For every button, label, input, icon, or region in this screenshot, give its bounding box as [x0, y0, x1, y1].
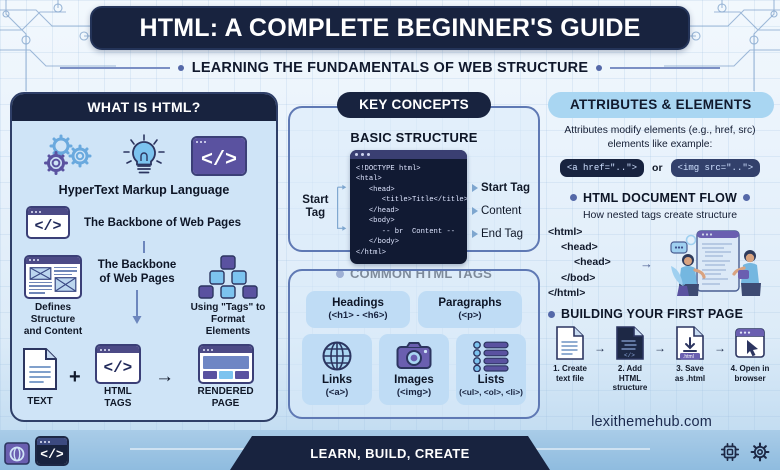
what-is-html-panel: WHAT IS HTML?: [10, 92, 278, 422]
people-with-screen-illustration: [657, 228, 765, 298]
html-badge-text: .html: [683, 354, 694, 360]
step-save-html: .html 3. Save as .html: [668, 325, 712, 383]
basic-structure-title: BASIC STRUCTURE: [298, 130, 530, 145]
flow-label-tags: HTML TAGS: [90, 386, 146, 410]
page-title-bar: HTML: A COMPLETE BEGINNER'S GUIDE: [90, 6, 690, 50]
document-flow-subtitle: How nested tags create structure: [548, 208, 772, 222]
tag-syntax-headings: (<h1> - <h6>): [308, 310, 408, 321]
first-page-dot: [548, 311, 555, 318]
right-column: ATTRIBUTES & ELEMENTS Attributes modify …: [548, 92, 772, 424]
defines-structure-caption: Defines Structure and Content: [22, 302, 84, 338]
subtitle-dot-left: [178, 65, 184, 71]
footer-right-icons: [720, 442, 770, 462]
code-window-small-icon: </>: [26, 206, 70, 239]
nested-tag-3: </bod>: [548, 271, 636, 286]
common-tags-card: Headings (<h1> - <h6>) Paragraphs (<p>) …: [288, 269, 540, 419]
blocks-hierarchy-icon: [196, 255, 260, 299]
code-file-icon: </>: [615, 325, 645, 361]
annotation-content: Content: [481, 205, 521, 217]
globe-icon: [321, 340, 353, 372]
basic-structure-card: BASIC STRUCTURE Start Tag <!DOCTYPE html…: [288, 106, 540, 252]
code-window-icon: </>: [191, 136, 247, 176]
rendered-page-icon: [198, 344, 254, 384]
html-code-sample: <!DOCTYPE html> <htal> <head> <title>Tit…: [350, 150, 467, 264]
attribute-or-label: or: [652, 162, 663, 174]
nested-tag-1: <head>: [548, 240, 636, 255]
flow-step-tags: </> HTML TAGS: [90, 344, 146, 410]
tag-syntax-paragraphs: (<p>): [420, 310, 520, 321]
tag-syntax-links: (<a>): [304, 387, 370, 398]
step-arrow-1: →: [594, 341, 606, 355]
flow-plus: +: [69, 366, 81, 389]
text-file-icon: [20, 347, 60, 391]
tag-card-headings[interactable]: Headings (<h1> - <h6>): [306, 291, 410, 328]
left-annotation-connector: [336, 164, 347, 250]
html-tags-window-icon: </>: [95, 344, 141, 384]
infographic-page: HTML: A COMPLETE BEGINNER'S GUIDE LEARNI…: [0, 0, 780, 470]
tag-syntax-images: (<img>): [381, 387, 447, 398]
attribute-example-img: <img src="..">: [671, 159, 761, 177]
step-add-html-structure: </> 2. Add HTML structure: [608, 325, 652, 393]
footer-bar: LEARN, BUILD, CREATE </>: [0, 430, 780, 470]
subtitle-row: LEARNING THE FUNDAMENTALS OF WEB STRUCTU…: [0, 58, 780, 78]
step-label-4: 4. Open in browser: [728, 364, 772, 383]
gears-icon: [41, 134, 97, 178]
first-page-heading: BUILDING YOUR FIRST PAGE: [561, 307, 743, 321]
save-file-icon: .html: [675, 325, 705, 361]
first-page-steps: 1. Create text file → </> 2. Add HTML st…: [548, 321, 772, 393]
flow-arrow: →: [155, 366, 174, 388]
flow-step-text: TEXT: [20, 347, 60, 408]
tag-name-headings: Headings: [308, 297, 408, 309]
tag-card-images[interactable]: Images (<img>): [379, 334, 449, 405]
step-open-browser: 4. Open in browser: [728, 325, 772, 383]
nested-tag-2: <head>: [548, 255, 636, 270]
annotation-arrow-3: [472, 230, 478, 238]
tag-syntax-lists: (<ul>, <ol>, <li>): [458, 387, 524, 397]
flow-step-rendered: RENDERED PAGE: [183, 344, 268, 410]
annotation-start-tag: Start Tag: [481, 182, 530, 194]
annotation-end-tag: End Tag: [481, 228, 523, 240]
tag-name-images: Images: [381, 374, 447, 386]
browser-cursor-icon: [734, 325, 766, 361]
key-concepts-heading: KEY CONCEPTS: [337, 92, 491, 118]
using-tags-caption: Using "Tags" to Format Elements: [190, 302, 266, 338]
subtitle-dot-right: [596, 65, 602, 71]
hypertext-markup-label: HyperText Markup Language: [20, 183, 268, 197]
render-flow-row: TEXT + </> HTML TAGS →: [20, 338, 268, 410]
tags-block: Using "Tags" to Format Elements: [190, 255, 266, 338]
nested-tags-sample: <html> <head> <head> </bod> </html>: [548, 225, 636, 301]
footer-tagline-band: LEARN, BUILD, CREATE: [230, 436, 550, 470]
attributes-description: Attributes modify elements (e.g., href, …: [548, 124, 772, 152]
nested-tag-4: </html>: [548, 286, 636, 301]
text-file-icon: [555, 325, 585, 361]
flow-label-rendered: RENDERED PAGE: [183, 386, 268, 410]
camera-icon: [396, 340, 432, 372]
tag-card-paragraphs[interactable]: Paragraphs (<p>): [418, 291, 522, 328]
subtitle-rule-left: [60, 67, 170, 69]
chip-icon: [720, 442, 740, 462]
attributes-elements-heading: ATTRIBUTES & ELEMENTS: [548, 92, 774, 118]
what-is-html-heading: WHAT IS HTML?: [12, 94, 276, 121]
code-sample-text: <!DOCTYPE html> <htal> <head> <title>Tit…: [350, 159, 467, 264]
down-arrow-icon: [131, 290, 143, 326]
lightbulb-icon: [119, 133, 169, 179]
code-window-titlebar: [350, 150, 467, 159]
document-flow-heading: HTML DOCUMENT FLOW: [583, 191, 737, 205]
document-flow-dot-right: [743, 194, 750, 201]
page-subtitle: LEARNING THE FUNDAMENTALS OF WEB STRUCTU…: [192, 60, 588, 76]
gear-icon: [750, 442, 770, 462]
annotation-arrow-2: [472, 207, 478, 215]
step-label-3: 3. Save as .html: [668, 364, 712, 383]
structure-block: Defines Structure and Content: [22, 255, 84, 338]
tag-name-paragraphs: Paragraphs: [420, 297, 520, 309]
start-tag-left-annotation: Start Tag: [298, 194, 333, 220]
footer-left-icons: </>: [4, 436, 69, 466]
step-label-2: 2. Add HTML structure: [608, 364, 652, 393]
backbone-label-mid: The Backbone of Web Pages: [90, 259, 184, 287]
subtitle-rule-right: [610, 67, 720, 69]
step-arrow-2: →: [654, 341, 666, 355]
attribute-example-anchor: <a href="..">: [560, 159, 644, 177]
page-title: HTML: A COMPLETE BEGINNER'S GUIDE: [140, 14, 641, 43]
code-window-icon: </>: [35, 436, 69, 466]
backbone-label-top: The Backbone of Web Pages: [78, 217, 241, 229]
tag-name-links: Links: [304, 374, 370, 386]
step-label-1: 1. Create text file: [548, 364, 592, 383]
concept-icons-row: </>: [20, 127, 268, 181]
footer-tagline: LEARN, BUILD, CREATE: [310, 446, 469, 461]
nested-tag-0: <html>: [548, 225, 636, 240]
watermark: lexithemehub.com: [591, 414, 712, 430]
list-icon: [472, 340, 510, 372]
tag-name-lists: Lists: [458, 374, 524, 386]
document-flow-arrow: →: [640, 256, 653, 271]
step-create-text-file: 1. Create text file: [548, 325, 592, 383]
tag-card-lists[interactable]: Lists (<ul>, <ol>, <li>): [456, 334, 526, 405]
tag-card-links[interactable]: Links (<a>): [302, 334, 372, 405]
step-arrow-3: →: [714, 341, 726, 355]
browser-icon: [4, 440, 30, 466]
wireframe-window-icon: [24, 255, 82, 299]
annotation-arrow-1: [472, 184, 478, 192]
flow-label-text: TEXT: [20, 396, 60, 408]
connector-line: [143, 241, 145, 253]
key-concepts-column: KEY CONCEPTS BASIC STRUCTURE Start Tag <…: [288, 92, 540, 424]
svg-text:</>: </>: [624, 352, 635, 359]
document-flow-dot-left: [570, 194, 577, 201]
